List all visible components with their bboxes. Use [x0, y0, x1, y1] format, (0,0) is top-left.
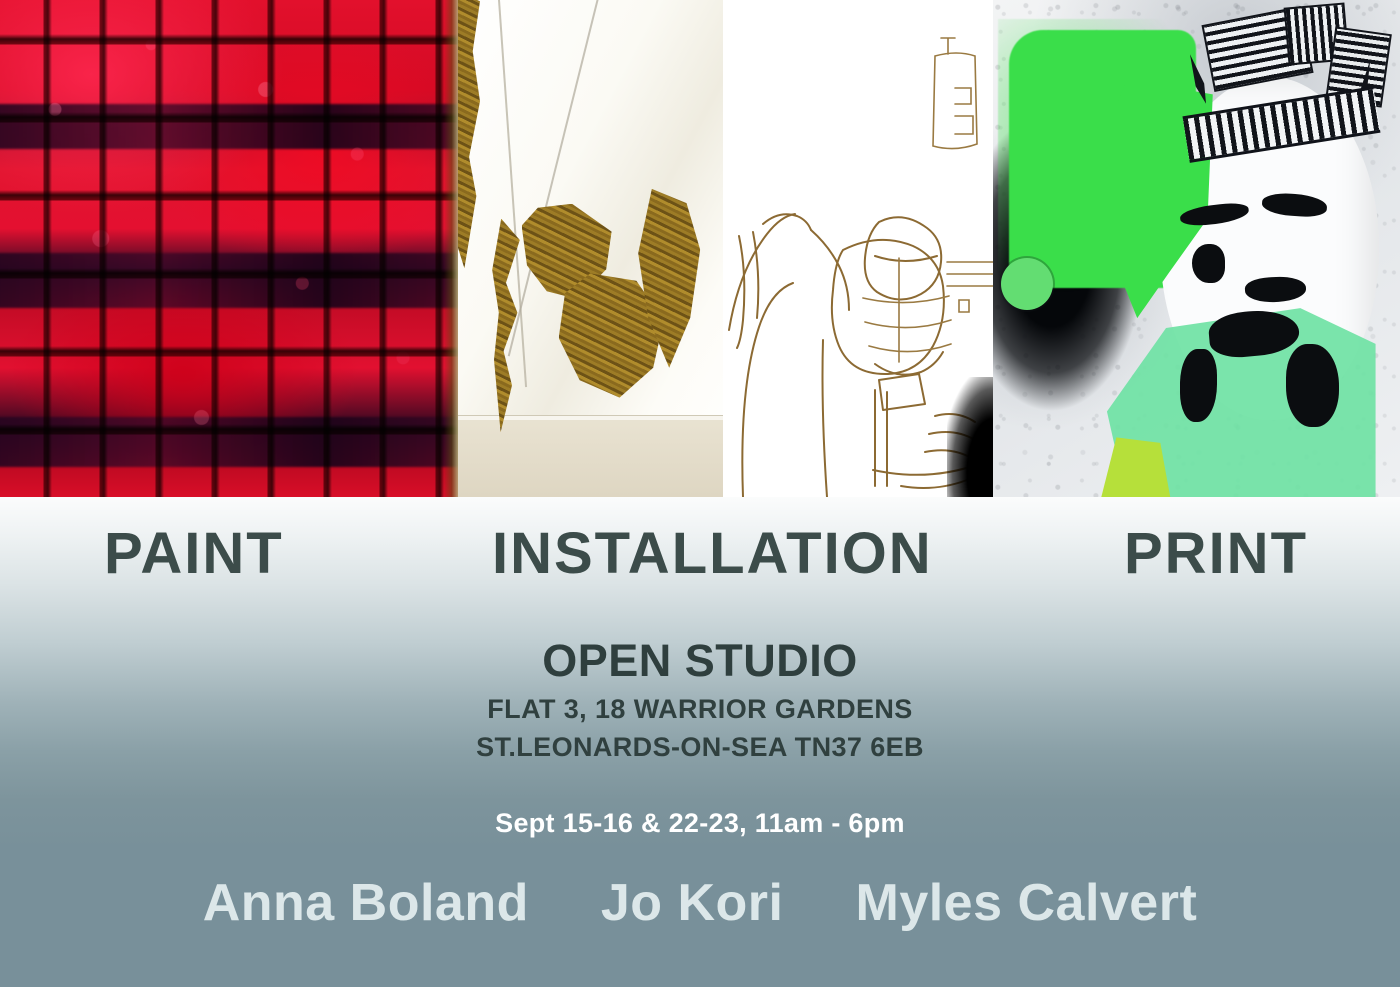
discipline-label-paint: PAINT	[104, 525, 284, 583]
artwork-image-band	[0, 0, 1400, 497]
event-heading: OPEN STUDIO	[0, 637, 1400, 684]
open-studio-poster: PAINT INSTALLATION PRINT OPEN STUDIO FLA…	[0, 0, 1400, 987]
discipline-row: PAINT INSTALLATION PRINT	[0, 509, 1400, 599]
print-crown	[1172, 5, 1392, 164]
drawing-image	[723, 0, 993, 497]
crown-band	[1183, 86, 1381, 163]
address-line-1: FLAT 3, 18 WARRIOR GARDENS	[0, 691, 1400, 728]
poster-info-section: PAINT INSTALLATION PRINT OPEN STUDIO FLA…	[0, 497, 1400, 987]
event-info-block: OPEN STUDIO FLAT 3, 18 WARRIOR GARDENS S…	[0, 637, 1400, 839]
address-line-2: ST.LEONARDS-ON-SEA TN37 6EB	[0, 729, 1400, 766]
artist-name-row: Anna Boland Jo Kori Myles Calvert	[0, 875, 1400, 932]
gallery-floor	[458, 417, 723, 497]
artist-name: Anna Boland	[203, 875, 529, 932]
queen-facial-features	[1164, 149, 1368, 427]
discipline-label-print: PRINT	[1124, 525, 1308, 583]
paint-canvas-edge	[444, 0, 458, 497]
installation-image	[458, 0, 723, 497]
artist-name: Jo Kori	[601, 875, 784, 932]
print-image	[993, 0, 1400, 497]
artist-name: Myles Calvert	[856, 875, 1198, 932]
discipline-label-installation: INSTALLATION	[492, 525, 933, 583]
event-dates: Sept 15-16 & 22-23, 11am - 6pm	[0, 766, 1400, 839]
paint-grid-horizontal	[0, 0, 458, 497]
skirting-board	[458, 415, 723, 420]
paint-image	[0, 0, 458, 497]
drawing-ink-blot	[947, 377, 993, 497]
